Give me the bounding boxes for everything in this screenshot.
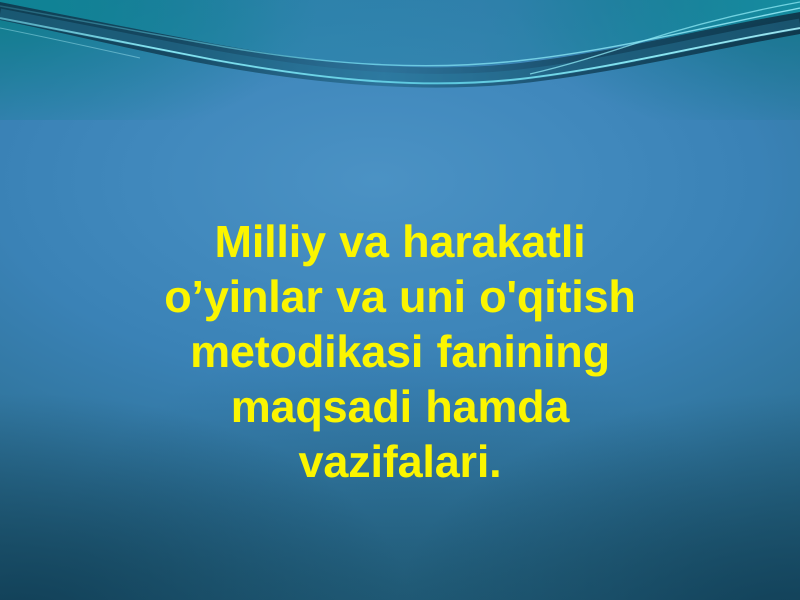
title-line-4: maqsadi hamda	[50, 379, 750, 434]
title-line-2: o’yinlar va uni o'qitish	[50, 269, 750, 324]
title-line-3: metodikasi fanining	[50, 324, 750, 379]
title-line-5: vazifalari.	[50, 434, 750, 489]
slide-title: Milliy va harakatli o’yinlar va uni o'qi…	[50, 214, 750, 489]
presentation-slide: Milliy va harakatli o’yinlar va uni o'qi…	[0, 0, 800, 600]
title-line-1: Milliy va harakatli	[50, 214, 750, 269]
